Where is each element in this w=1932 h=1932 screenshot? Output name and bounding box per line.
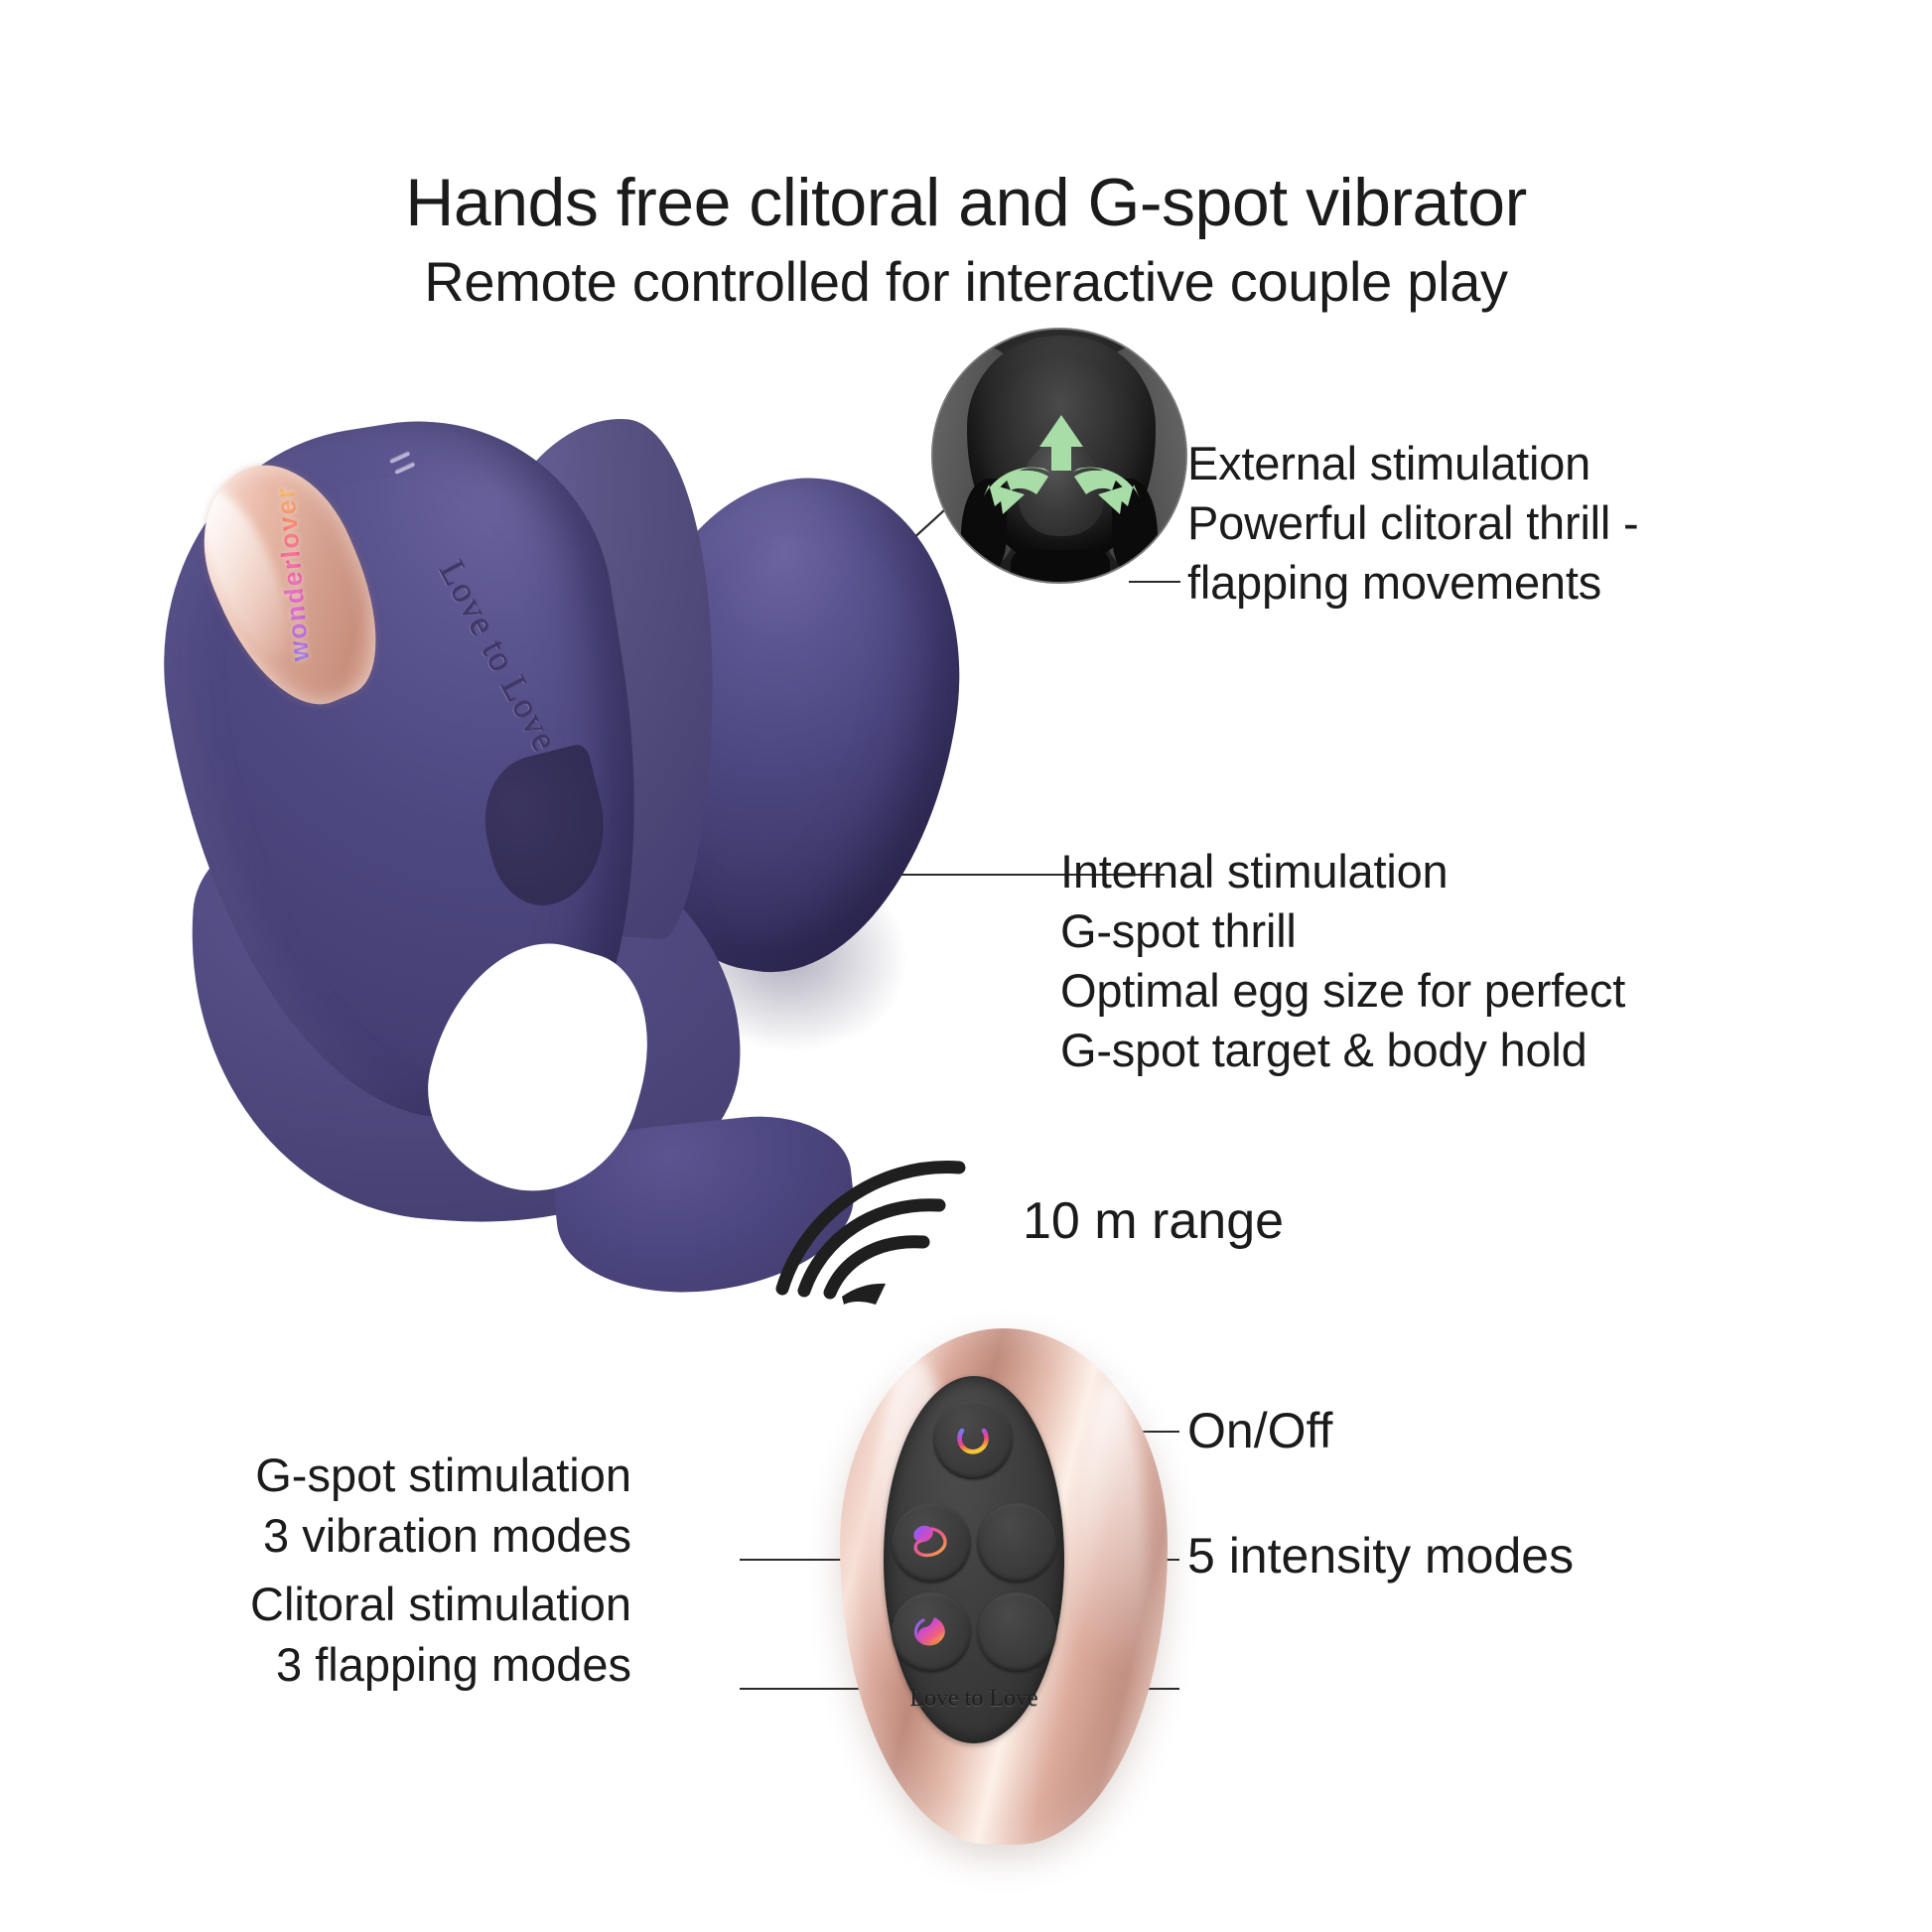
label-onoff: On/Off [1187, 1402, 1332, 1459]
remote-gspot-mode-button[interactable] [892, 1503, 971, 1583]
range-label: 10 m range [1023, 1191, 1284, 1251]
product-illustration-vibrator: wonderlover Love to Love [159, 427, 1023, 1251]
page-title: Hands free clitoral and G-spot vibrator [0, 167, 1932, 239]
remote-intensity-down-button[interactable] [977, 1592, 1056, 1672]
clitoral-icon [907, 1610, 955, 1654]
label-clitoral-modes: Clitoral stimulation 3 flapping modes [250, 1574, 631, 1695]
signal-waves-icon [764, 1140, 1013, 1309]
arrow-up-icon [1039, 415, 1083, 471]
product-vent-marks [389, 451, 419, 482]
page-subtitle: Remote controlled for interactive couple… [0, 251, 1932, 314]
gspot-egg-icon [907, 1521, 955, 1565]
callout-internal-stimulation: Internal stimulation G-spot thrill Optim… [1060, 842, 1625, 1081]
remote-button-panel: Love to Love [884, 1376, 1064, 1743]
remote-clitoral-mode-button[interactable] [892, 1592, 971, 1672]
minus-icon [995, 1610, 1038, 1654]
callout-external-stimulation: External stimulation Powerful clitoral t… [1187, 434, 1638, 613]
arrow-curve-right-icon [1072, 468, 1140, 514]
remote-intensity-up-button[interactable] [977, 1503, 1056, 1583]
label-intensity-modes: 5 intensity modes [1187, 1527, 1574, 1585]
remote-control: Love to Love [840, 1328, 1168, 1845]
plus-icon [995, 1521, 1038, 1565]
label-gspot-modes: G-spot stimulation 3 vibration modes [255, 1445, 631, 1566]
remote-power-button[interactable] [933, 1400, 1013, 1479]
power-icon [951, 1418, 995, 1461]
remote-brand-logo: Love to Love [884, 1686, 1064, 1713]
header-block: Hands free clitoral and G-spot vibrator … [0, 167, 1932, 314]
product-brand-wordmark: wonderlover [266, 449, 319, 699]
